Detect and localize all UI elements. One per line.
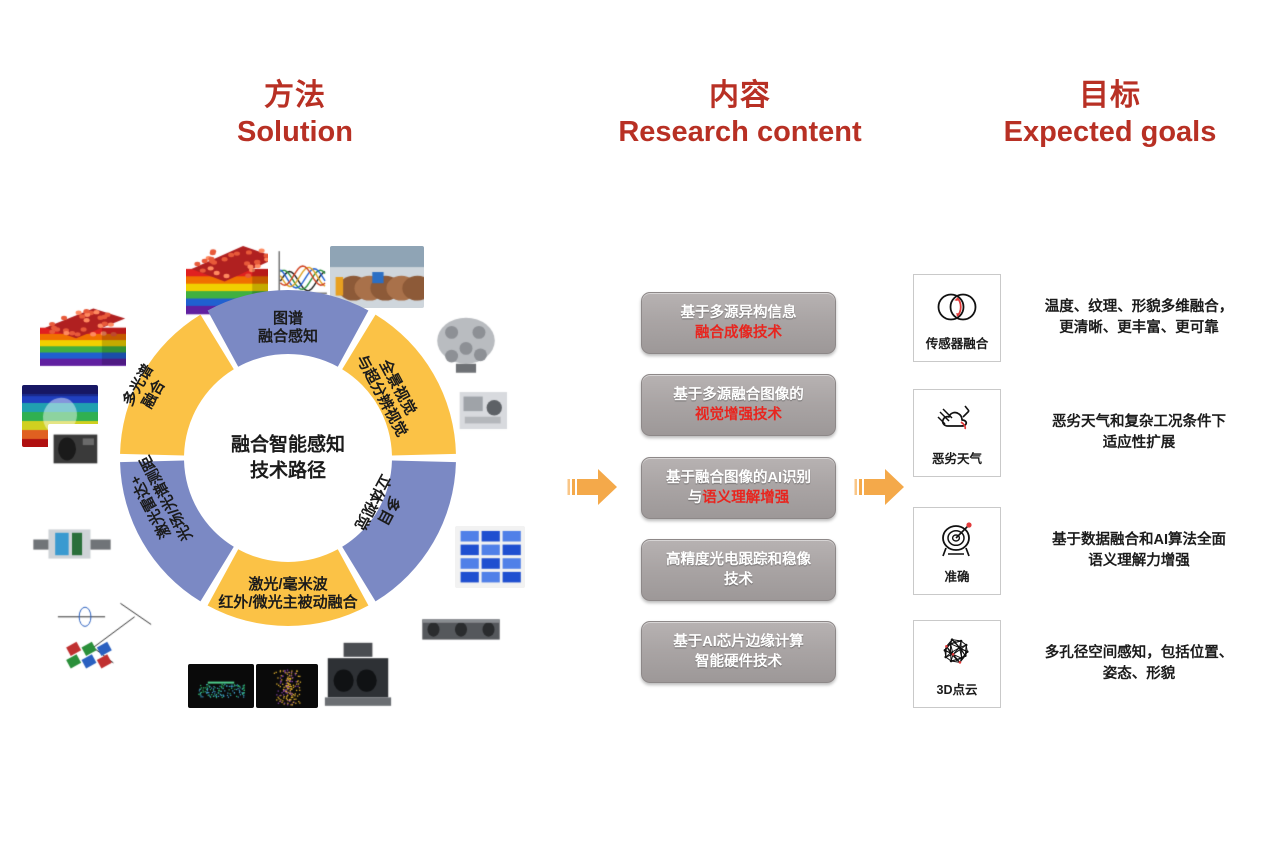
technology-roadmap-donut: 图谱 融合感知 全景视觉 与超分辨视觉 多目 立体视觉 激光/毫米波 红外/微光… xyxy=(118,288,458,628)
research-box-1-line2: 视觉增强技术 xyxy=(695,407,782,423)
goal-text-point-cloud: 多孔径空间感知，包括位置、 姿态、形貌 xyxy=(1001,643,1263,685)
donut-center-title: 融合智能感知 技术路径 xyxy=(231,432,345,483)
goal-text-sensor-fusion: 温度、纹理、形貌多维融合， 更清晰、更丰富、更可靠 xyxy=(1001,297,1263,339)
goal-text-bad-weather: 恶劣天气和复杂工况条件下 适应性扩展 xyxy=(1001,412,1263,454)
research-box-1-line1: 基于多源融合图像的 xyxy=(673,387,804,403)
header-solution-en: Solution xyxy=(160,115,430,149)
research-box-2-line1: 基于融合图像的AI识别 xyxy=(666,470,811,486)
arrow-content-to-goals xyxy=(854,463,910,511)
goal-card-accuracy[interactable]: 准确 xyxy=(913,507,1001,595)
research-box-edge-computing[interactable]: 基于AI芯片边缘计算 智能硬件技术 xyxy=(641,621,836,683)
venn-circles-icon xyxy=(932,285,982,329)
research-box-tracking-stabilization[interactable]: 高精度光电跟踪和稳像 技术 xyxy=(641,539,836,601)
goal-card-caption-sensor-fusion: 传感器融合 xyxy=(926,333,989,352)
point-cloud-sphere-icon xyxy=(932,631,982,675)
thumbnail-camera-module xyxy=(48,424,104,472)
goal-card-caption-accuracy: 准确 xyxy=(944,566,969,585)
research-box-3-line1: 高精度光电跟踪和稳像 xyxy=(666,552,811,568)
goal-text-accuracy: 基于数据融合和AI算法全面 语义理解力增强 xyxy=(1001,530,1263,572)
header-solution-cn: 方法 xyxy=(160,78,430,113)
target-dart-icon xyxy=(932,518,982,562)
goal-card-bad-weather[interactable]: 恶劣天气 xyxy=(913,389,1001,477)
research-box-fusion-imaging[interactable]: 基于多源异构信息 融合成像技术 xyxy=(641,292,836,354)
goal-card-point-cloud[interactable]: 3D点云 xyxy=(913,620,1001,708)
donut-segment-label-bottom: 激光/毫米波 红外/微光主被动融合 xyxy=(218,576,357,612)
research-box-2-line2-prefix: 与 xyxy=(688,490,703,506)
header-goals-cn: 目标 xyxy=(960,78,1260,113)
thumbnail-lidar-scan-statue xyxy=(256,664,318,708)
column-header-expected-goals: 目标 Expected goals xyxy=(960,78,1260,150)
arrow-solution-to-content xyxy=(567,463,623,511)
column-header-research-content: 内容 Research content xyxy=(600,78,880,150)
diagram-canvas: 方法 Solution 内容 Research content 目标 Expec… xyxy=(0,0,1268,866)
goal-card-caption-point-cloud: 3D点云 xyxy=(937,679,978,698)
research-box-0-line2: 融合成像技术 xyxy=(695,325,782,341)
goal-row-sensor-fusion: 传感器融合 温度、纹理、形貌多维融合， 更清晰、更丰富、更可靠 xyxy=(913,273,1263,363)
research-box-ai-semantic[interactable]: 基于融合图像的AI识别 与语义理解增强 xyxy=(641,457,836,519)
research-box-visual-enhancement[interactable]: 基于多源融合图像的 视觉增强技术 xyxy=(641,374,836,436)
goal-row-accuracy: 准确 基于数据融合和AI算法全面 语义理解力增强 xyxy=(913,506,1263,596)
research-box-3-line2: 技术 xyxy=(724,572,753,588)
donut-segment-label-top: 图谱 融合感知 xyxy=(258,310,318,346)
research-box-4-line2: 智能硬件技术 xyxy=(695,654,782,670)
thumbnail-gimbal-turret xyxy=(322,640,394,710)
header-content-cn: 内容 xyxy=(600,78,880,113)
header-content-en: Research content xyxy=(600,115,880,149)
thumbnail-optical-instrument xyxy=(452,382,516,438)
goal-card-sensor-fusion[interactable]: 传感器融合 xyxy=(913,274,1001,362)
header-goals-en: Expected goals xyxy=(960,115,1260,149)
thumbnail-lidar-scan-ship xyxy=(188,664,254,708)
research-box-2-line2-highlight: 语义理解增强 xyxy=(702,490,789,506)
goal-row-point-cloud: 3D点云 多孔径空间感知，包括位置、 姿态、形貌 xyxy=(913,619,1263,709)
rain-cloud-icon xyxy=(932,400,982,444)
research-box-0-line1: 基于多源异构信息 xyxy=(681,305,797,321)
goal-row-bad-weather: 恶劣天气 恶劣天气和复杂工况条件下 适应性扩展 xyxy=(913,388,1263,478)
thumbnail-hyperspectral-cube-left xyxy=(40,306,126,368)
goal-card-caption-bad-weather: 恶劣天气 xyxy=(932,448,982,467)
thumbnail-stereo-blue-target xyxy=(455,526,525,588)
thumbnail-spectrometer-module xyxy=(30,516,114,572)
column-header-solution: 方法 Solution xyxy=(160,78,430,150)
research-box-4-line1: 基于AI芯片边缘计算 xyxy=(673,634,804,650)
